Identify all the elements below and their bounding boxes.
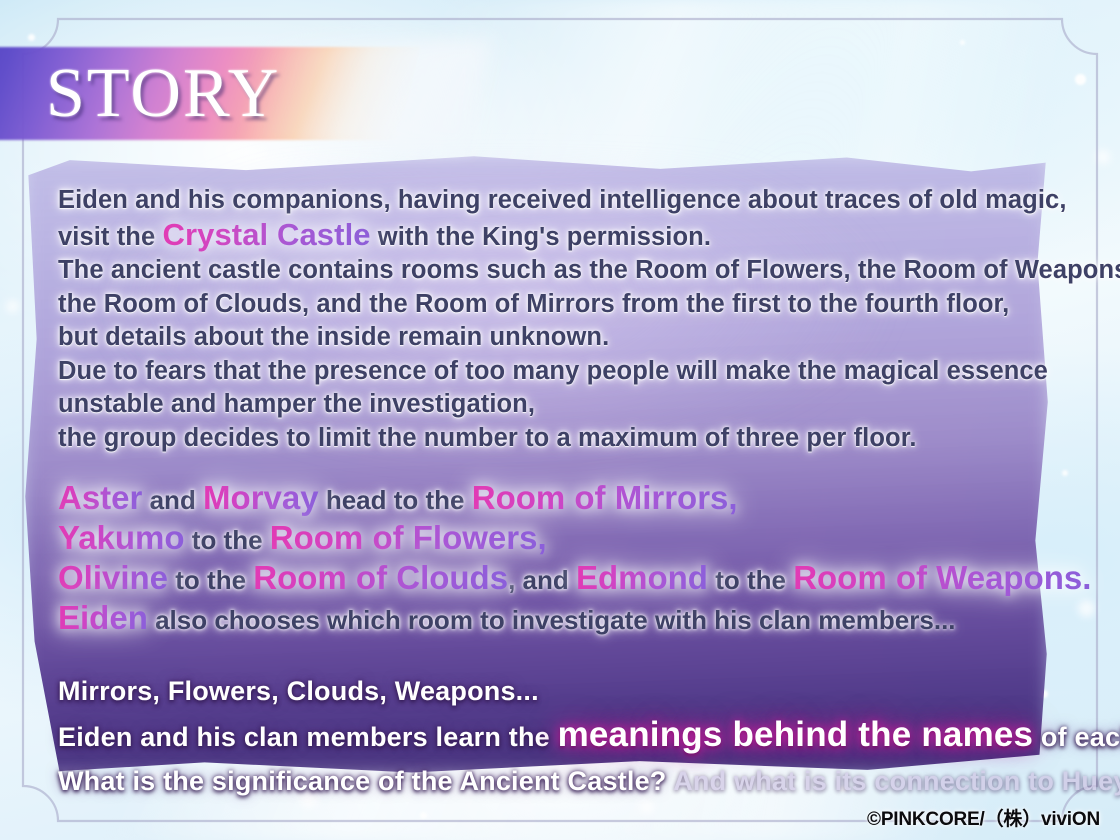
closing-line: Eiden and his clan members learn the mea… — [58, 713, 1068, 759]
text-run: Eiden and his companions, having receive… — [58, 186, 1067, 214]
intro-line: visit the Crystal Castle with the King's… — [58, 218, 1068, 255]
text-run: to the — [168, 565, 253, 595]
story-screen: STORY Eiden and his companions, having r… — [0, 0, 1120, 840]
intro-line: unstable and hamper the investigation, — [58, 388, 1068, 422]
assignment-line: Aster and Morvay head to the Room of Mir… — [58, 479, 1068, 519]
text-run: Eiden and his clan members learn the — [58, 722, 558, 752]
text-run: the Room of Clouds, and the Room of Mirr… — [58, 290, 1009, 318]
intro-line: but details about the inside remain unkn… — [58, 321, 1068, 355]
closing-paragraph: Mirrors, Flowers, Clouds, Weapons... Eid… — [58, 669, 1068, 803]
intro-paragraph: Eiden and his companions, having receive… — [58, 184, 1068, 455]
text-run-big: Room of Mirrors, — [472, 479, 738, 516]
text-run: head to the — [319, 485, 472, 515]
text-run: Mirrors, Flowers, Clouds, Weapons... — [58, 676, 539, 706]
text-run: What is the significance of the Ancient … — [58, 766, 673, 796]
assignments-paragraph: Aster and Morvay head to the Room of Mir… — [58, 479, 1068, 639]
text-run-big: Room of Flowers, — [270, 519, 547, 556]
text-run: but details about the inside remain unkn… — [58, 323, 609, 351]
text-run: , and — [508, 565, 576, 595]
assignment-line: Eiden also chooses which room to investi… — [58, 599, 1068, 639]
intro-line: Eiden and his companions, having receive… — [58, 184, 1068, 218]
text-run: also chooses which room to investigate w… — [148, 605, 956, 635]
text-run-big: Eiden — [58, 599, 148, 636]
story-content: Eiden and his companions, having receive… — [58, 184, 1068, 803]
closing-line: What is the significance of the Ancient … — [58, 759, 1068, 803]
text-run-big: Room of Weapons. — [793, 559, 1091, 596]
closing-line: Mirrors, Flowers, Clouds, Weapons... — [58, 669, 1068, 713]
text-run-highlight: Crystal Castle — [162, 217, 370, 252]
text-run-emph: meanings behind the names — [558, 715, 1034, 754]
assignment-line: Yakumo to the Room of Flowers, — [58, 519, 1068, 559]
text-run: with the King's permission. — [371, 223, 711, 251]
text-run: and — [142, 485, 203, 515]
text-run-big: Aster — [58, 479, 142, 516]
text-run: the group decides to limit the number to… — [58, 424, 917, 452]
copyright-notice: ©PINKCORE/（株）viviON — [867, 804, 1100, 831]
text-run-big: Edmond — [576, 559, 708, 596]
text-run-big: Olivine — [58, 559, 168, 596]
text-run: to the — [185, 525, 270, 555]
text-run-big: Room of Clouds — [253, 559, 508, 596]
assignment-line: Olivine to the Room of Clouds, and Edmon… — [58, 559, 1068, 599]
intro-line: The ancient castle contains rooms such a… — [58, 254, 1068, 288]
intro-line: Due to fears that the presence of too ma… — [58, 355, 1068, 389]
intro-line: the Room of Clouds, and the Room of Mirr… — [58, 288, 1068, 322]
text-run: The ancient castle contains rooms such a… — [58, 256, 1120, 284]
text-run: of each room. — [1033, 722, 1120, 752]
text-run: to the — [708, 565, 793, 595]
text-run: visit the — [58, 223, 162, 251]
text-run-big: Morvay — [203, 479, 319, 516]
text-run-fade: And what is its connection to Huey...? — [673, 766, 1120, 796]
text-run: Due to fears that the presence of too ma… — [58, 357, 1048, 385]
intro-line: the group decides to limit the number to… — [58, 422, 1068, 456]
text-run-big: Yakumo — [58, 519, 185, 556]
page-title: STORY — [46, 52, 280, 136]
text-run: unstable and hamper the investigation, — [58, 390, 535, 418]
